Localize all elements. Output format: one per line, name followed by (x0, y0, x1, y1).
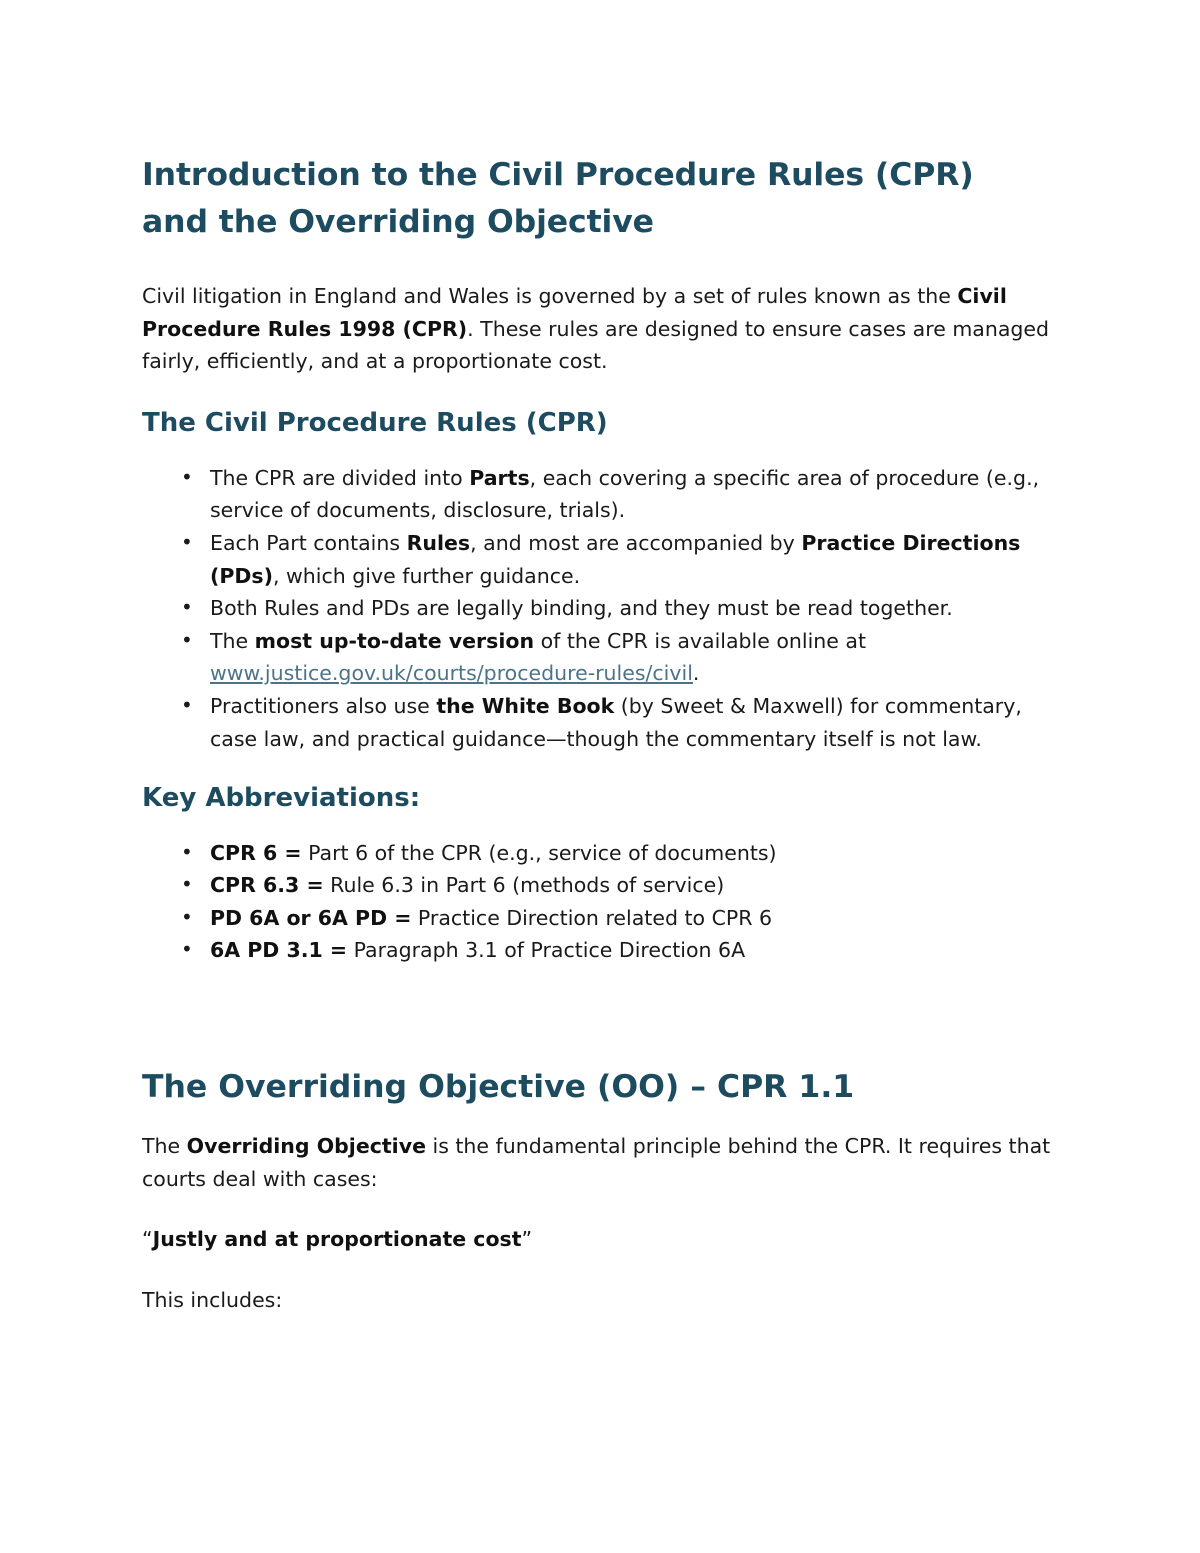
list-item: 6A PD 3.1 = Paragraph 3.1 of Practice Di… (142, 934, 1062, 966)
abbreviation-definition: Paragraph 3.1 of Practice Direction 6A (347, 938, 745, 962)
abbreviation-term: 6A PD 3.1 = (210, 938, 347, 962)
list-item: CPR 6.3 = Rule 6.3 in Part 6 (methods of… (142, 869, 1062, 901)
quote-open-mark: “ (142, 1227, 153, 1251)
page-title: Introduction to the Civil Procedure Rule… (142, 152, 1022, 246)
abbreviation-definition: Part 6 of the CPR (e.g., service of docu… (302, 841, 777, 865)
intro-text-part1: Civil litigation in England and Wales is… (142, 284, 957, 308)
section-heading-cpr: The Civil Procedure Rules (CPR) (142, 406, 1062, 440)
list-item: PD 6A or 6A PD = Practice Direction rela… (142, 902, 1062, 934)
list-item: Practitioners also use the White Book (b… (142, 690, 1062, 755)
abbreviation-term: CPR 6.3 = (210, 873, 324, 897)
bullet-text-bold: most up-to-date version (255, 629, 534, 653)
overriding-objective-paragraph: The Overriding Objective is the fundamen… (142, 1130, 1062, 1195)
bullet-text-post: , which give further guidance. (273, 564, 580, 588)
section-heading-overriding-objective: The Overriding Objective (OO) – CPR 1.1 (142, 1066, 1062, 1108)
cpr-bullet-list: The CPR are divided into Parts, each cov… (142, 462, 1062, 755)
bullet-text-pre: Practitioners also use (210, 694, 436, 718)
bullet-text-pre: Both Rules and PDs are legally binding, … (210, 596, 953, 620)
bullet-text-pre: The CPR are divided into (210, 466, 469, 490)
bullet-text-bold: Parts (469, 466, 529, 490)
oo-text-bold: Overriding Objective (187, 1134, 426, 1158)
abbreviation-definition: Rule 6.3 in Part 6 (methods of service) (324, 873, 725, 897)
this-includes-label: This includes: (142, 1284, 1062, 1317)
oo-text-pre: The (142, 1134, 187, 1158)
abbreviation-term: CPR 6 = (210, 841, 302, 865)
list-item: Each Part contains Rules, and most are a… (142, 527, 1062, 592)
bullet-text-post: . (693, 661, 700, 685)
list-item: CPR 6 = Part 6 of the CPR (e.g., service… (142, 837, 1062, 869)
section-spacer (142, 992, 1062, 1066)
list-item: The most up-to-date version of the CPR i… (142, 625, 1062, 690)
bullet-text-mid: of the CPR is available online at (534, 629, 866, 653)
quote-text: Justly and at proportionate cost (153, 1227, 522, 1251)
quote-close-mark: ” (522, 1227, 533, 1251)
list-item: The CPR are divided into Parts, each cov… (142, 462, 1062, 527)
section-heading-abbreviations: Key Abbreviations: (142, 781, 1062, 815)
bullet-text-bold: the White Book (436, 694, 614, 718)
abbreviations-list: CPR 6 = Part 6 of the CPR (e.g., service… (142, 837, 1062, 966)
document-content: Introduction to the Civil Procedure Rule… (142, 152, 1062, 1344)
list-item: Both Rules and PDs are legally binding, … (142, 592, 1062, 625)
bullet-text-mid: , and most are accompanied by (470, 531, 801, 555)
bullet-text-bold: Rules (407, 531, 471, 555)
intro-paragraph: Civil litigation in England and Wales is… (142, 280, 1062, 378)
abbreviation-term: PD 6A or 6A PD = (210, 906, 411, 930)
abbreviation-definition: Practice Direction related to CPR 6 (411, 906, 772, 930)
bullet-text-pre: The (210, 629, 255, 653)
overriding-objective-quote: “Justly and at proportionate cost” (142, 1223, 1062, 1256)
document-page: Introduction to the Civil Procedure Rule… (0, 0, 1200, 1553)
cpr-online-link[interactable]: www.justice.gov.uk/courts/procedure-rule… (210, 661, 693, 685)
bullet-text-pre: Each Part contains (210, 531, 407, 555)
